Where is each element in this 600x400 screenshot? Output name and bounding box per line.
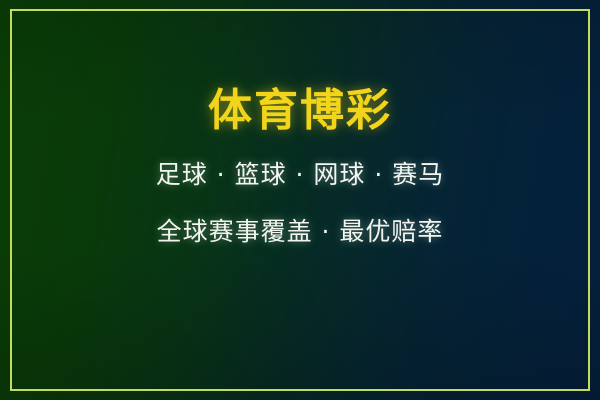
sports-betting-banner: 体育博彩 足球 · 篮球 · 网球 · 赛马 全球赛事覆盖 · 最优赔率 — [0, 0, 600, 400]
banner-sports-list: 足球 · 篮球 · 网球 · 赛马 — [156, 161, 445, 189]
banner-tagline: 全球赛事覆盖 · 最优赔率 — [157, 218, 444, 246]
banner-content: 体育博彩 足球 · 篮球 · 网球 · 赛马 全球赛事覆盖 · 最优赔率 — [0, 0, 600, 400]
banner-title: 体育博彩 — [208, 88, 392, 134]
